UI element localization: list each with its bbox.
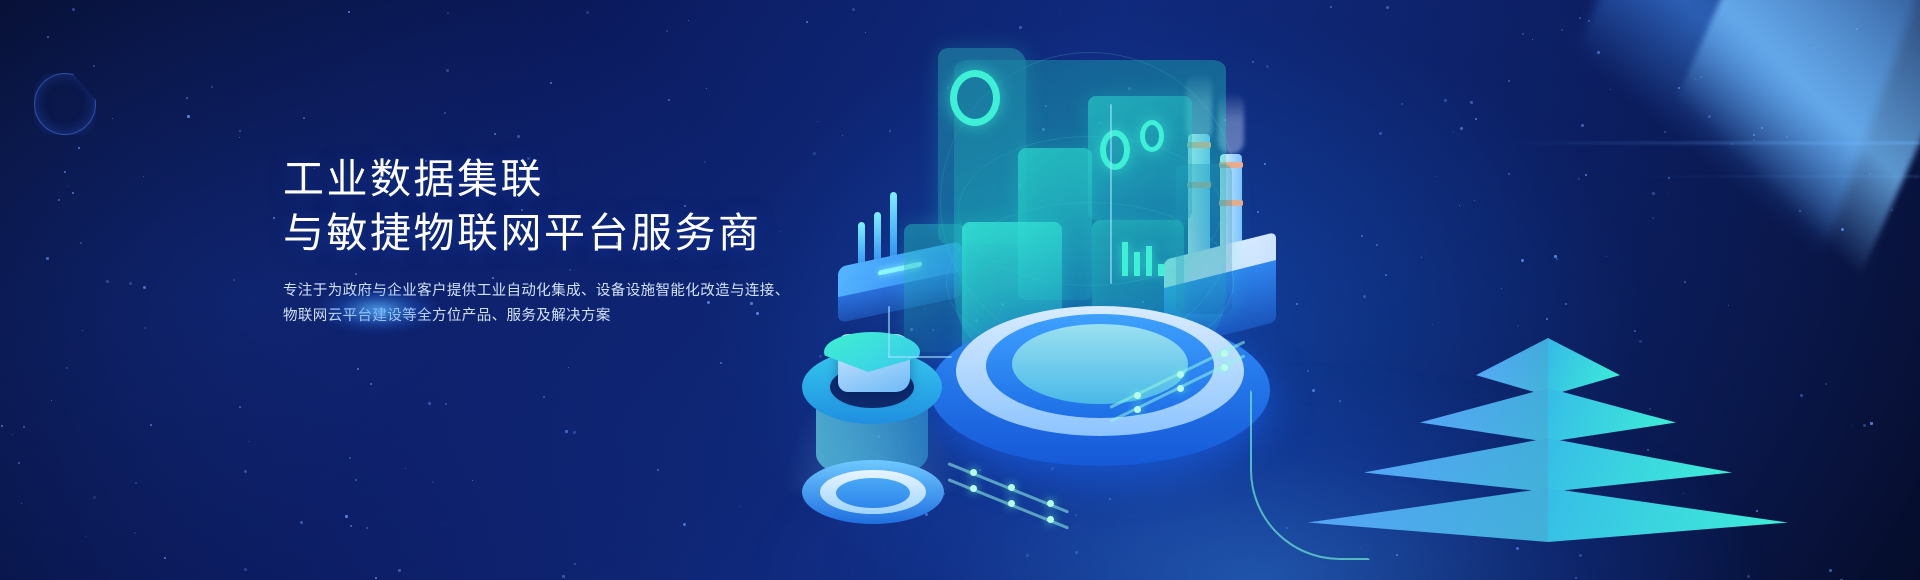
star-dot bbox=[472, 480, 473, 481]
data-pulse-dot bbox=[1221, 364, 1228, 371]
star-dot bbox=[300, 521, 303, 524]
bar-chart-icon bbox=[1122, 240, 1166, 276]
star-dot bbox=[350, 525, 352, 527]
star-dot bbox=[366, 527, 368, 529]
star-dot bbox=[683, 523, 686, 526]
star-dot bbox=[51, 400, 52, 401]
hero-illustration bbox=[780, 0, 1920, 580]
ring-chart-icon bbox=[1100, 130, 1130, 170]
star-dot bbox=[93, 496, 96, 499]
star-dot bbox=[93, 65, 95, 67]
star-dot bbox=[82, 330, 83, 331]
star-dot bbox=[186, 97, 188, 99]
star-dot bbox=[349, 457, 351, 459]
star-dot bbox=[345, 515, 348, 518]
connection-wire-curve bbox=[1250, 390, 1370, 560]
hero-banner: 工业数据集联 与敏捷物联网平台服务商 专注于为政府与企业客户提供工业自动化集成、… bbox=[0, 0, 1920, 580]
data-panel bbox=[938, 48, 1026, 244]
star-dot bbox=[568, 367, 569, 368]
star-dot bbox=[67, 186, 68, 187]
star-dot bbox=[164, 557, 166, 559]
star-dot bbox=[446, 69, 449, 72]
star-dot bbox=[405, 468, 406, 469]
star-dot bbox=[72, 192, 74, 194]
star-dot bbox=[428, 402, 431, 405]
star-dot bbox=[72, 8, 75, 11]
star-dot bbox=[211, 86, 213, 88]
ring-chart-icon bbox=[1140, 120, 1164, 152]
star-dot bbox=[106, 280, 109, 283]
star-dot bbox=[398, 569, 401, 572]
connection-wire bbox=[1110, 104, 1112, 284]
crescent-moon-icon bbox=[34, 73, 96, 135]
star-dot bbox=[550, 82, 552, 84]
data-pulse-dot bbox=[1047, 516, 1054, 523]
ring-chart-icon bbox=[950, 70, 1000, 126]
star-dot bbox=[135, 482, 137, 484]
star-dot bbox=[494, 133, 496, 135]
star-dot bbox=[143, 176, 144, 177]
star-dot bbox=[85, 536, 86, 537]
star-dot bbox=[239, 137, 240, 138]
connection-wire bbox=[888, 306, 890, 358]
star-dot bbox=[21, 503, 22, 504]
star-dot bbox=[239, 406, 241, 408]
star-dot bbox=[233, 279, 235, 281]
star-dot bbox=[447, 12, 449, 14]
star-dot bbox=[239, 130, 241, 132]
star-dot bbox=[370, 383, 372, 385]
star-dot bbox=[249, 441, 250, 442]
star-dot bbox=[58, 199, 60, 201]
star-dot bbox=[80, 242, 82, 244]
star-dot bbox=[244, 568, 247, 571]
star-dot bbox=[357, 368, 359, 370]
star-dot bbox=[543, 396, 545, 398]
star-dot bbox=[688, 20, 689, 21]
star-dot bbox=[273, 217, 275, 219]
star-dot bbox=[47, 36, 49, 38]
star-dot bbox=[445, 403, 447, 405]
star-dot bbox=[112, 118, 113, 119]
disc-core bbox=[1012, 324, 1188, 404]
star-dot bbox=[355, 479, 357, 481]
star-dot bbox=[517, 135, 520, 138]
star-dot bbox=[573, 431, 576, 434]
star-dot bbox=[348, 11, 350, 13]
star-dot bbox=[150, 424, 152, 426]
antenna-icon bbox=[890, 192, 897, 260]
star-dot bbox=[187, 115, 190, 118]
star-dot bbox=[134, 532, 136, 534]
star-dot bbox=[143, 286, 146, 289]
star-dot bbox=[445, 523, 446, 524]
star-dot bbox=[739, 506, 740, 507]
star-dot bbox=[23, 426, 25, 428]
star-dot bbox=[562, 575, 565, 578]
data-pulse-dot bbox=[970, 469, 977, 476]
star-dot bbox=[64, 171, 66, 173]
star-dot bbox=[586, 11, 589, 14]
star-dot bbox=[12, 434, 13, 435]
star-dot bbox=[78, 147, 80, 149]
star-dot bbox=[46, 257, 49, 260]
disc-platform-base bbox=[930, 300, 1270, 470]
data-pulse-dot bbox=[970, 485, 977, 492]
star-dot bbox=[432, 481, 434, 483]
star-dot bbox=[129, 282, 132, 285]
star-dot bbox=[720, 362, 722, 364]
star-dot bbox=[668, 99, 670, 101]
star-dot bbox=[144, 327, 146, 329]
pie-base-ring bbox=[802, 460, 944, 524]
star-dot bbox=[1, 425, 3, 427]
star-dot bbox=[657, 469, 659, 471]
star-dot bbox=[244, 470, 247, 473]
star-dot bbox=[574, 563, 576, 565]
star-dot bbox=[18, 462, 20, 464]
data-pulse-dot bbox=[1221, 350, 1228, 357]
data-pulse-dot bbox=[1047, 500, 1054, 507]
star-dot bbox=[565, 430, 568, 433]
star-dot bbox=[66, 367, 68, 369]
star-dot bbox=[444, 112, 446, 114]
text-spark-glow bbox=[318, 288, 438, 332]
connection-wire bbox=[888, 356, 952, 358]
star-dot bbox=[706, 88, 707, 89]
stepped-pyramid-icon bbox=[1398, 338, 1698, 580]
star-dot bbox=[375, 577, 377, 579]
star-dot bbox=[666, 30, 668, 32]
star-dot bbox=[303, 117, 305, 119]
